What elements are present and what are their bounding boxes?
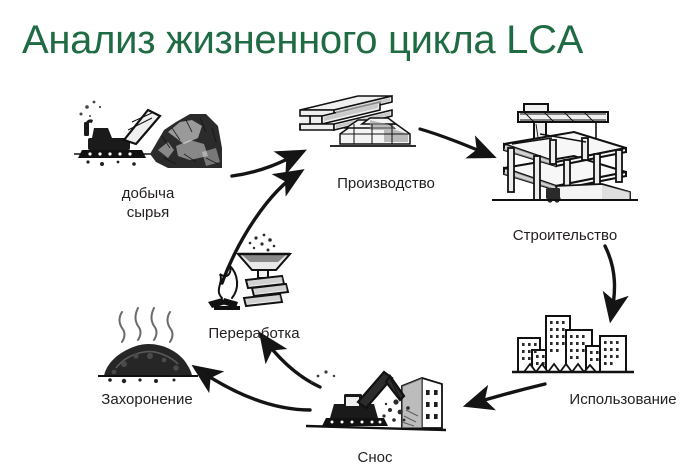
cityscape-icon bbox=[508, 302, 648, 384]
arrow-extraction-to-production bbox=[232, 152, 302, 176]
demolition-machine-icon bbox=[300, 366, 450, 440]
slide-canvas: Анализ жизненного цикла LCA bbox=[0, 0, 699, 467]
arrow-usage-to-demolition bbox=[468, 384, 545, 405]
node-label-landfill: Захоронение bbox=[52, 390, 242, 409]
page-title: Анализ жизненного цикла LCA bbox=[22, 18, 583, 63]
node-label-usage: Использование bbox=[538, 390, 699, 409]
arrow-production-to-construction bbox=[420, 129, 492, 156]
node-label-demolition: Снос bbox=[320, 448, 430, 467]
node-label-recycling: Переработка bbox=[184, 324, 324, 343]
building-crane-icon bbox=[490, 100, 640, 220]
furnace-fire-icon bbox=[206, 232, 298, 318]
node-label-production: Производство bbox=[316, 174, 456, 193]
excavator-mining-icon bbox=[72, 92, 224, 178]
lifecycle-diagram: добыча сырья bbox=[0, 80, 699, 467]
node-label-extraction: добыча сырья bbox=[68, 184, 228, 222]
ibeam-bricks-icon bbox=[296, 94, 420, 156]
node-label-construction: Строительство bbox=[480, 226, 650, 245]
